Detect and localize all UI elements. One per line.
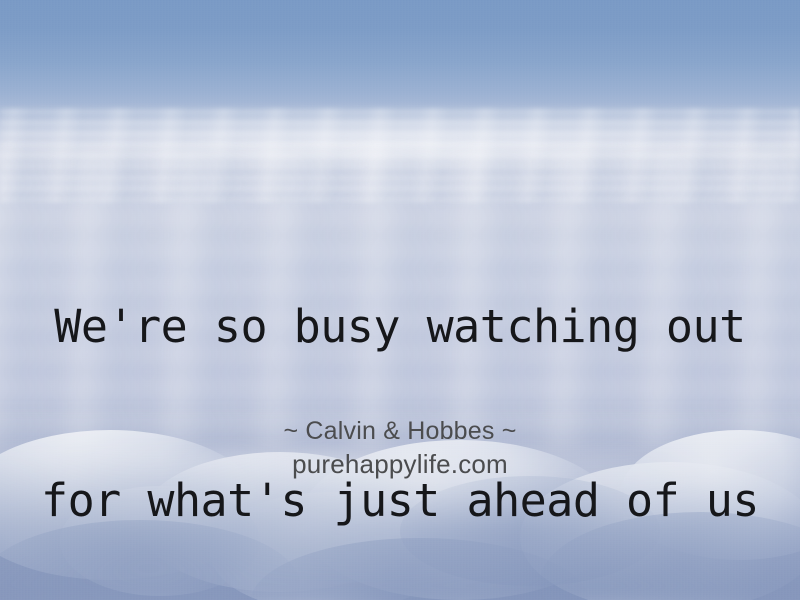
quote-author: ~ Calvin & Hobbes ~ bbox=[0, 415, 800, 447]
attribution-block: ~ Calvin & Hobbes ~ purehappylife.com bbox=[0, 415, 800, 481]
quote-image-canvas: We're so busy watching out for what's ju… bbox=[0, 0, 800, 600]
quote-line: We're so busy watching out bbox=[0, 298, 800, 356]
source-website: purehappylife.com bbox=[0, 447, 800, 481]
text-overlay: We're so busy watching out for what's ju… bbox=[0, 0, 800, 600]
quote-text-block: We're so busy watching out for what's ju… bbox=[0, 182, 800, 600]
